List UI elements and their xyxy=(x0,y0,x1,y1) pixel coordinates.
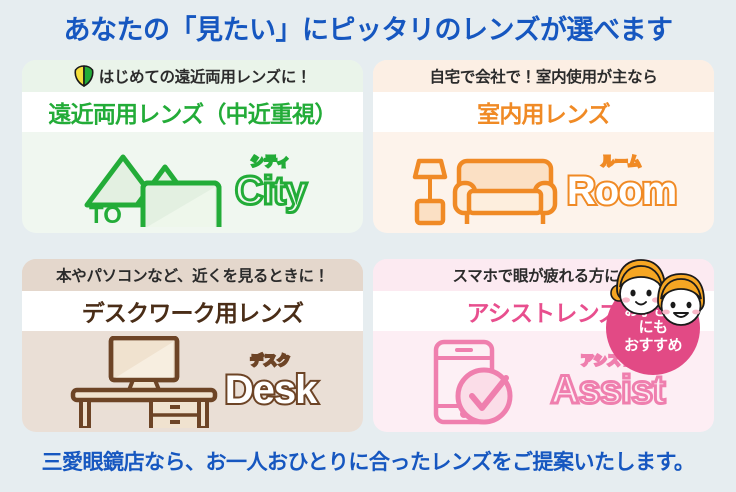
card-city-lead: はじめての遠近両用レンズに！ xyxy=(99,65,312,87)
wordmark-city: シティ City xyxy=(235,155,307,211)
card-city-kana: シティ xyxy=(251,155,291,168)
mountains-to-monitor-icon: TO xyxy=(79,139,229,227)
card-room-kana: ルーム xyxy=(601,155,641,168)
lens-card-city[interactable]: はじめての遠近両用レンズに！ 遠近両用レンズ（中近重視） TO xyxy=(22,60,363,233)
card-desk-body: デスク Desk xyxy=(22,331,363,432)
smartphone-check-icon xyxy=(422,338,544,426)
card-desk-header: 本やパソコンなど、近くを見るときに！ xyxy=(22,259,363,291)
kids-badge-line3: おすすめ xyxy=(624,337,682,354)
card-desk-kana: デスク xyxy=(250,354,291,367)
kids-recommendation-badge: お子さま にも おすすめ xyxy=(600,257,718,375)
card-assist-latin: Assist xyxy=(550,370,664,410)
wakaba-mark-icon xyxy=(74,65,94,87)
card-city-body: TO シティ City xyxy=(22,132,363,233)
lens-card-room[interactable]: 自宅で会社で！室内使用が主なら 室内用レンズ xyxy=(373,60,714,233)
card-room-body: ルーム Room xyxy=(373,132,714,233)
card-desk-latin: Desk xyxy=(225,370,317,410)
card-room-header: 自宅で会社で！室内使用が主なら xyxy=(373,60,714,92)
lens-card-assist[interactable]: スマホで眼が疲れる方に！ アシストレンズ xyxy=(373,259,714,432)
page-title: あなたの「見たい」にピッタリのレンズが選べます xyxy=(0,8,736,47)
armchair-floor-lamp-icon xyxy=(411,139,561,227)
card-city-header: はじめての遠近両用レンズに！ xyxy=(22,60,363,92)
card-city-title: 遠近両用レンズ（中近重視） xyxy=(22,92,363,132)
card-room-latin: Room xyxy=(567,171,676,211)
card-city-latin: City xyxy=(235,171,307,211)
footer-message: 三愛眼鏡店なら、お一人おひとりに合ったレンズをご提案いたします。 xyxy=(0,446,736,476)
wordmark-room: ルーム Room xyxy=(567,155,676,211)
card-room-lead: 自宅で会社で！室内使用が主なら xyxy=(429,65,657,87)
wordmark-desk: デスク Desk xyxy=(225,354,317,410)
lens-card-grid: はじめての遠近両用レンズに！ 遠近両用レンズ（中近重視） TO xyxy=(22,60,714,432)
card-desk-title: デスクワーク用レンズ xyxy=(22,291,363,331)
promo-graphic: あなたの「見たい」にピッタリのレンズが選べます はじめての遠近両用レンズに！ 遠… xyxy=(0,0,736,492)
card-room-title: 室内用レンズ xyxy=(373,92,714,132)
boy-face-icon xyxy=(652,271,710,329)
card-desk-lead: 本やパソコンなど、近くを見るときに！ xyxy=(56,264,329,286)
svg-text:TO: TO xyxy=(89,202,122,227)
lens-card-desk[interactable]: 本やパソコンなど、近くを見るときに！ デスクワーク用レンズ xyxy=(22,259,363,432)
desk-monitor-icon xyxy=(69,336,219,428)
